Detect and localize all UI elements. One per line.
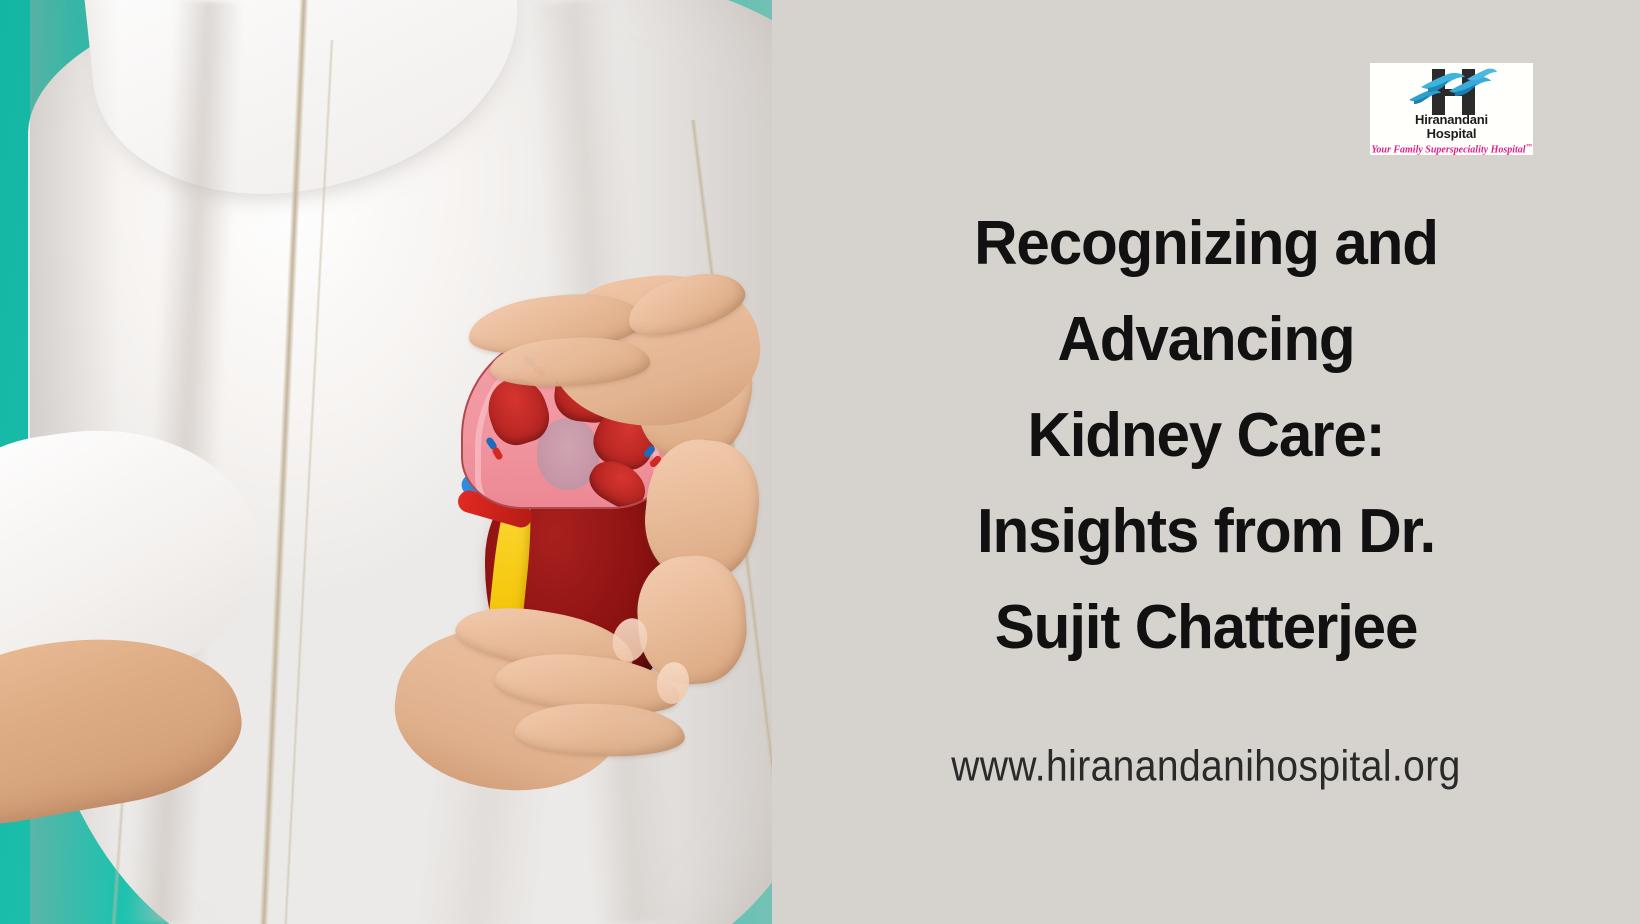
logo-tagline-text: Your Family Superspeciality Hospital xyxy=(1371,144,1525,155)
content-panel: Hiranandani Hospital Your Family Supersp… xyxy=(772,0,1640,924)
headline-line-1: Recognizing and xyxy=(824,196,1588,292)
logo-name-line1: Hiranandani xyxy=(1415,113,1488,126)
headline-line-2: Advancing xyxy=(824,292,1588,388)
hospital-logo[interactable]: Hiranandani Hospital Your Family Supersp… xyxy=(1370,63,1533,155)
promo-banner: Hiranandani Hospital Your Family Supersp… xyxy=(0,0,1640,924)
page-title: Recognizing and Advancing Kidney Care: I… xyxy=(812,196,1600,676)
hand-lower xyxy=(395,600,725,790)
website-url[interactable]: www.hiranandanihospital.org xyxy=(772,742,1640,791)
hand-upper xyxy=(430,272,760,422)
trademark-symbol: ™ xyxy=(1526,144,1532,150)
logo-name-line2: Hospital xyxy=(1427,127,1477,140)
headline-line-4: Insights from Dr. xyxy=(824,484,1588,580)
hero-photo xyxy=(0,0,772,924)
bird-icon xyxy=(1466,67,1498,85)
logo-mark xyxy=(1406,67,1498,112)
logo-tagline: Your Family Superspeciality Hospital™ xyxy=(1371,142,1531,155)
headline-line-5: Sujit Chatterjee xyxy=(824,580,1588,676)
headline-line-3: Kidney Care: xyxy=(824,388,1588,484)
